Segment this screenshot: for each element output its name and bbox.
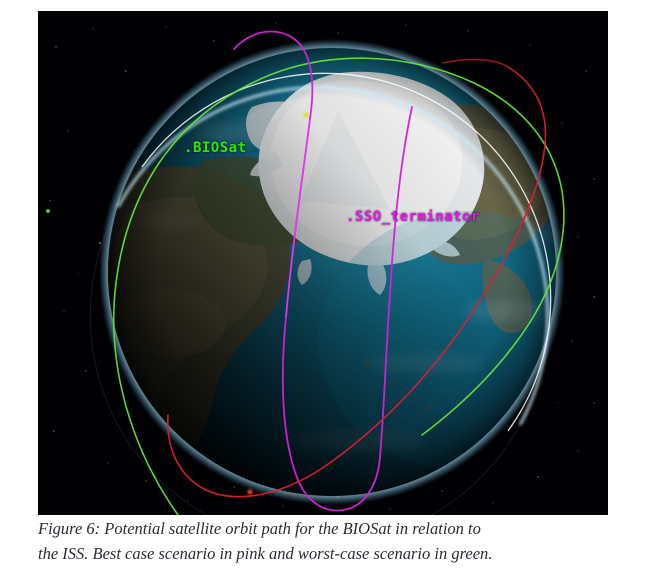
biosat-edge-marker <box>46 209 50 213</box>
figure-caption-line-1: Figure 6: Potential satellite orbit path… <box>38 516 634 541</box>
figure-caption-line-2: the ISS. Best case scenario in pink and … <box>38 541 634 566</box>
satellite-orbit-image: .BIOSat .SSO_terminator <box>38 11 608 515</box>
figure-caption: Figure 6: Potential satellite orbit path… <box>38 516 634 566</box>
biosat-node-marker <box>303 112 308 117</box>
figure-container: .BIOSat .SSO_terminator Figure 6: Potent… <box>0 0 650 571</box>
globe-scene-svg <box>38 11 608 515</box>
limb-darkening <box>108 48 556 496</box>
iss-node-marker <box>247 489 252 494</box>
